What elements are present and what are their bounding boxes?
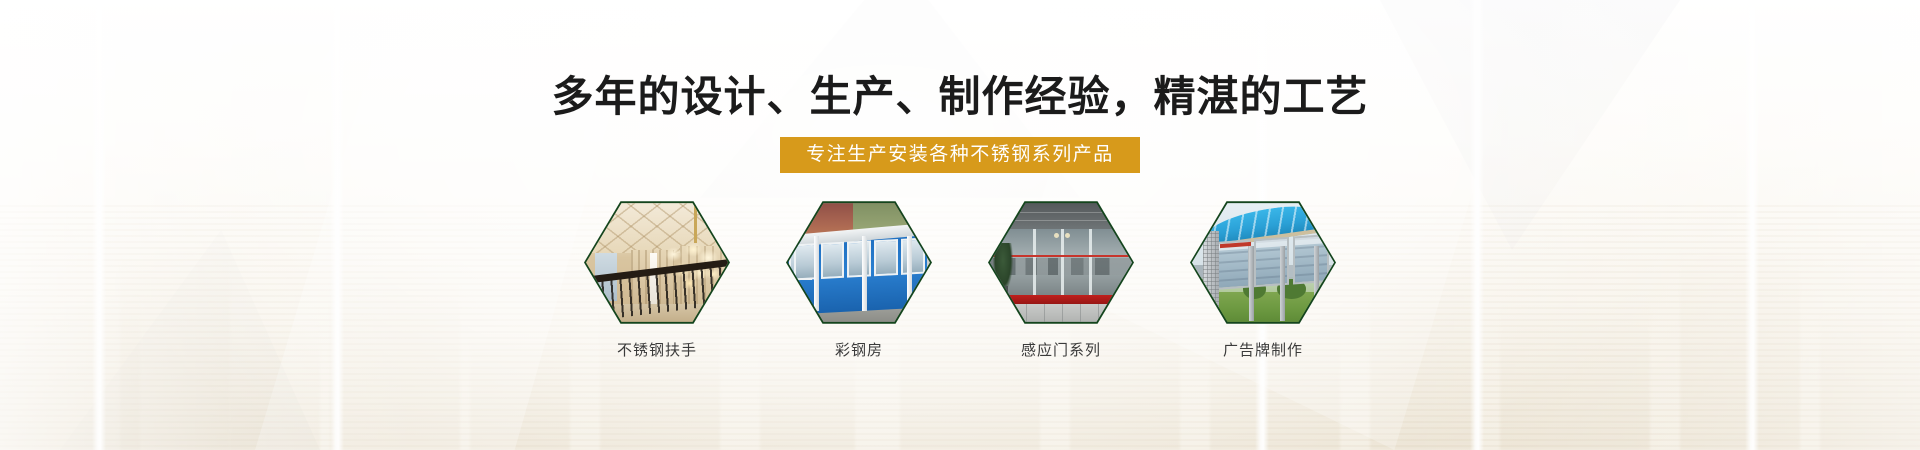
- hexagon-frame[interactable]: [1190, 200, 1336, 325]
- product-label-sensor-door: 感应门系列: [1021, 339, 1101, 360]
- product-label-billboard: 广告牌制作: [1223, 339, 1303, 360]
- hexagon-frame[interactable]: [786, 200, 932, 325]
- hero-banner: 多年的设计、生产、制作经验，精湛的工艺 专注生产安装各种不锈钢系列产品: [0, 0, 1920, 450]
- hexagon-clip: [788, 202, 930, 323]
- hexagon-clip: [990, 202, 1132, 323]
- product-item-color-steel-house[interactable]: 彩钢房: [774, 200, 944, 360]
- product-item-handrail[interactable]: 不锈钢扶手: [572, 200, 742, 360]
- product-hexagon-row: 不锈钢扶手: [0, 200, 1920, 360]
- product-image-handrail: [586, 202, 728, 323]
- hexagon-clip: [586, 202, 728, 323]
- hexagon-frame[interactable]: [584, 200, 730, 325]
- product-item-sensor-door[interactable]: 感应门系列: [976, 200, 1146, 360]
- product-image-billboard: [1192, 202, 1334, 323]
- hexagon-frame[interactable]: [988, 200, 1134, 325]
- product-image-sensor-door: [990, 202, 1132, 323]
- banner-headline: 多年的设计、生产、制作经验，精湛的工艺: [551, 74, 1368, 120]
- product-label-handrail: 不锈钢扶手: [617, 339, 697, 360]
- banner-subtitle-badge: 专注生产安装各种不锈钢系列产品: [780, 137, 1140, 173]
- hexagon-clip: [1192, 202, 1334, 323]
- product-image-color-steel-house: [788, 202, 930, 323]
- product-label-color-steel-house: 彩钢房: [835, 339, 883, 360]
- product-item-billboard[interactable]: 广告牌制作: [1178, 200, 1348, 360]
